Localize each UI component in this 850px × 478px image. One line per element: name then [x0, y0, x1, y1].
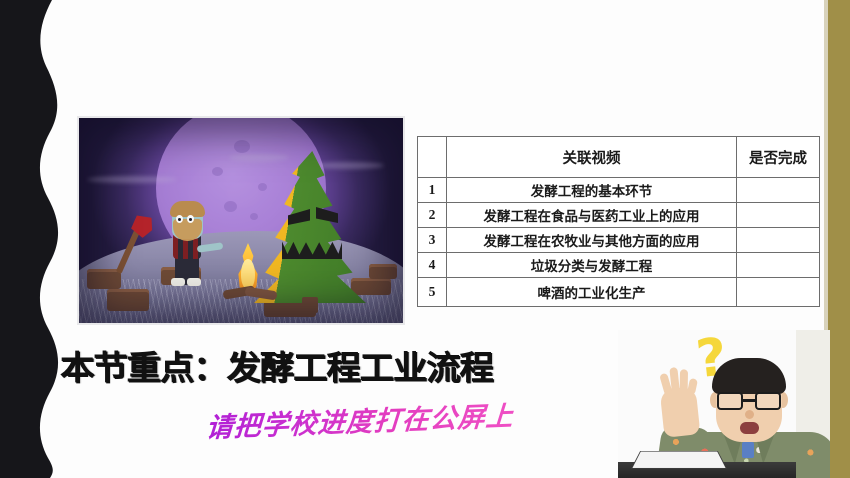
row-number: 5	[418, 278, 447, 307]
table-header-row: 关联视频 是否完成	[418, 137, 820, 178]
row-number: 1	[418, 178, 447, 203]
teacher-video-overlay[interactable]: ?	[618, 330, 830, 478]
slide-canvas: 关联视频 是否完成 1 发酵工程的基本环节 2 发酵工程在食品与医药工业上的应用…	[0, 0, 850, 478]
row-video-title: 啤酒的工业化生产	[447, 278, 737, 307]
row-completed-cell[interactable]	[737, 278, 820, 307]
video-thumbnail[interactable]	[77, 116, 405, 325]
row-number: 4	[418, 253, 447, 278]
table-row[interactable]: 4 垃圾分类与发酵工程	[418, 253, 820, 278]
row-number: 3	[418, 228, 447, 253]
wave-band-shape	[0, 0, 80, 478]
table-row[interactable]: 2 发酵工程在食品与医药工业上的应用	[418, 203, 820, 228]
header-completed: 是否完成	[737, 137, 820, 178]
table-row[interactable]: 5 啤酒的工业化生产	[418, 278, 820, 307]
decorative-wave-band-left	[0, 0, 80, 478]
scene-vignette	[79, 118, 403, 323]
thumbnail-scene	[79, 118, 403, 323]
table-row[interactable]: 1 发酵工程的基本环节	[418, 178, 820, 203]
teacher-mouth	[740, 422, 759, 434]
decorative-khaki-band-right	[828, 0, 850, 478]
handwritten-note: 请把学校进度打在公屏上	[205, 394, 515, 445]
row-video-title: 发酵工程在食品与医药工业上的应用	[447, 203, 737, 228]
header-blank	[418, 137, 447, 178]
row-video-title: 发酵工程的基本环节	[447, 178, 737, 203]
teacher-nose	[745, 410, 754, 419]
teacher-raised-hand	[660, 386, 701, 438]
header-related-video: 关联视频	[447, 137, 737, 178]
row-number: 2	[418, 203, 447, 228]
glasses-lens-right	[755, 392, 781, 410]
row-video-title: 发酵工程在农牧业与其他方面的应用	[447, 228, 737, 253]
page-title: 本节重点：发酵工程工业流程	[60, 341, 493, 389]
glasses-icon	[717, 392, 781, 410]
related-video-table: 关联视频 是否完成 1 发酵工程的基本环节 2 发酵工程在食品与医药工业上的应用…	[417, 136, 820, 307]
row-completed-cell[interactable]	[737, 203, 820, 228]
row-completed-cell[interactable]	[737, 228, 820, 253]
teacher-hair	[712, 358, 786, 394]
glasses-bridge	[743, 399, 755, 402]
glasses-lens-left	[717, 392, 743, 410]
row-video-title: 垃圾分类与发酵工程	[447, 253, 737, 278]
laptop-screen	[631, 451, 727, 469]
shirt-badge	[742, 442, 754, 458]
table-row[interactable]: 3 发酵工程在农牧业与其他方面的应用	[418, 228, 820, 253]
row-completed-cell[interactable]	[737, 178, 820, 203]
row-completed-cell[interactable]	[737, 253, 820, 278]
